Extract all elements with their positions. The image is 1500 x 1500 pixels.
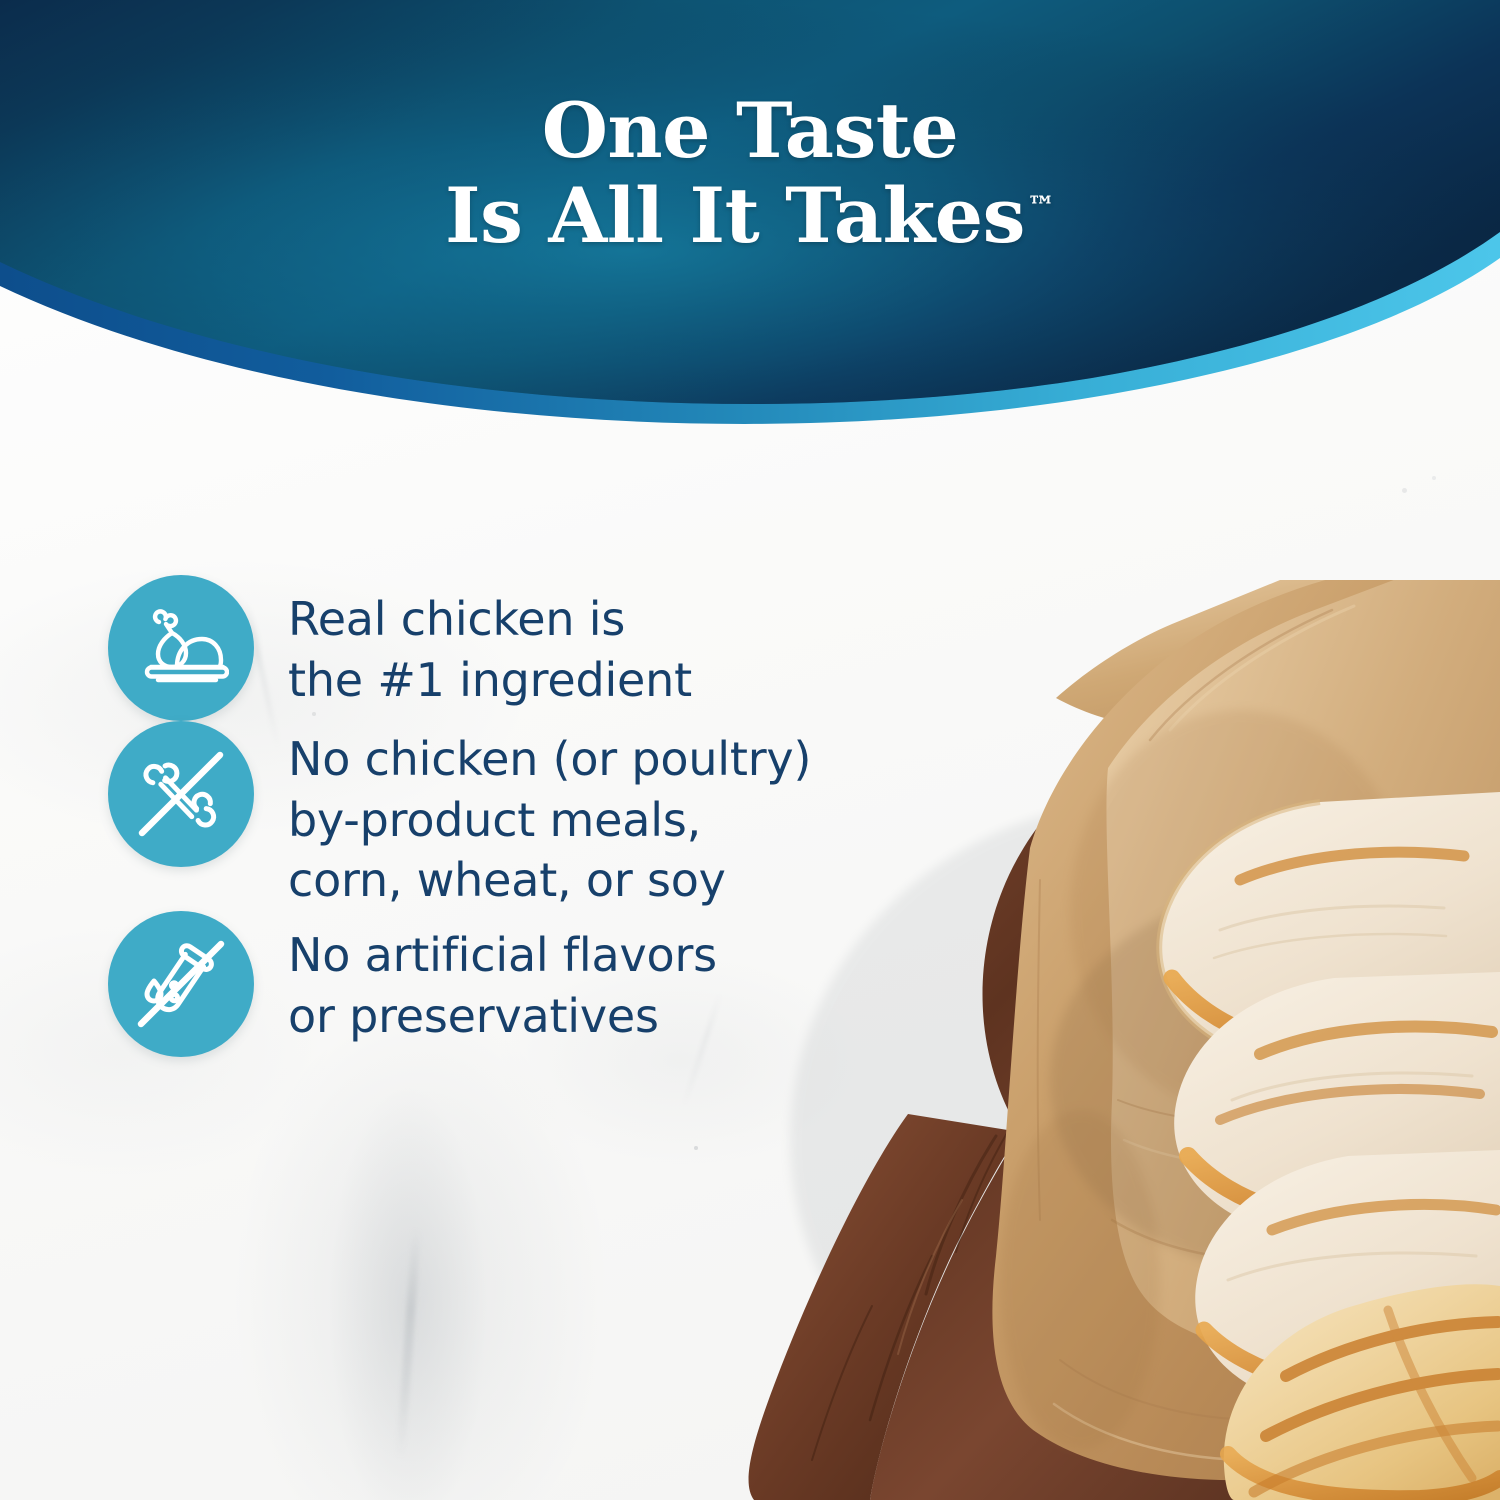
no-test-tube-icon bbox=[108, 911, 254, 1057]
marble-speck bbox=[1402, 488, 1407, 493]
poster-canvas: One Taste Is All It Takes™ bbox=[0, 0, 1500, 1500]
list-item-label: No artificial flavors or preservatives bbox=[288, 911, 717, 1046]
list-item-label: No chicken (or poultry) by-product meals… bbox=[288, 721, 811, 911]
header-banner: One Taste Is All It Takes™ bbox=[0, 0, 1500, 470]
marble-speck bbox=[694, 1146, 698, 1150]
trademark-symbol: ™ bbox=[1027, 190, 1055, 223]
roast-chicken-platter-icon bbox=[108, 575, 254, 721]
page-title: One Taste Is All It Takes™ bbox=[0, 0, 1500, 258]
headline-line-2: Is All It Takes™ bbox=[445, 173, 1055, 258]
list-item: No chicken (or poultry) by-product meals… bbox=[108, 721, 898, 911]
list-item: Real chicken is the #1 ingredient bbox=[108, 575, 898, 721]
list-item-label: Real chicken is the #1 ingredient bbox=[288, 575, 692, 710]
marble-speck bbox=[1432, 476, 1436, 480]
list-item: No artificial flavors or preservatives bbox=[108, 911, 898, 1057]
headline-line-1: One Taste bbox=[0, 88, 1500, 173]
benefit-list: Real chicken is the #1 ingredient bbox=[108, 575, 898, 1057]
no-bone-icon bbox=[108, 721, 254, 867]
